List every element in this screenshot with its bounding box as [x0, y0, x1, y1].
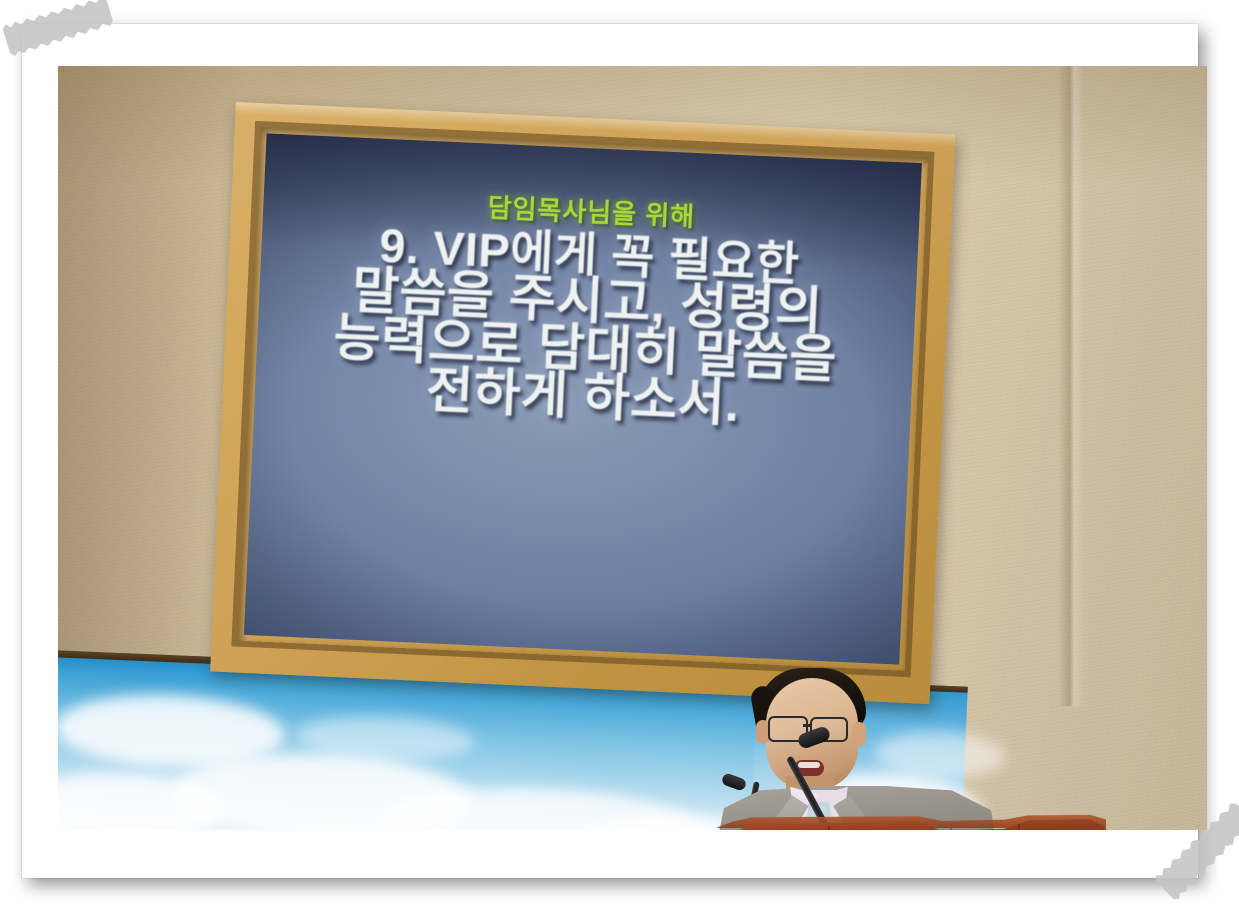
podium-seam [1018, 824, 1020, 830]
slide-body-text: 9. VIP에게 꼭 필요한 말씀을 주시고, 성령의 능력으로 담대히 말씀을… [330, 222, 842, 433]
photo-card: 담임목사님을 위해 9. VIP에게 꼭 필요한 말씀을 주시고, 성령의 능력… [22, 24, 1198, 878]
glasses-bridge-icon [803, 724, 812, 727]
projection-screen-assembly: 담임목사님을 위해 9. VIP에게 꼭 필요한 말씀을 주시고, 성령의 능력… [210, 102, 955, 704]
podium-seam [828, 826, 830, 830]
projection-screen-surface: 담임목사님을 위해 9. VIP에게 꼭 필요한 말씀을 주시고, 성령의 능력… [244, 133, 922, 664]
photograph: 담임목사님을 위해 9. VIP에게 꼭 필요한 말씀을 주시고, 성령의 능력… [58, 66, 1207, 830]
slide-text-block: 담임목사님을 위해 9. VIP에게 꼭 필요한 말씀을 주시고, 성령의 능력… [244, 133, 922, 664]
wall-corner-edge [1058, 66, 1084, 706]
podium-seam [950, 828, 952, 830]
speaker-figure [698, 664, 1118, 830]
ear-right [852, 722, 866, 746]
microphone-head-left-icon [721, 772, 748, 791]
photo-stage: 담임목사님을 위해 9. VIP에게 꼭 필요한 말씀을 주시고, 성령의 능력… [0, 0, 1239, 908]
